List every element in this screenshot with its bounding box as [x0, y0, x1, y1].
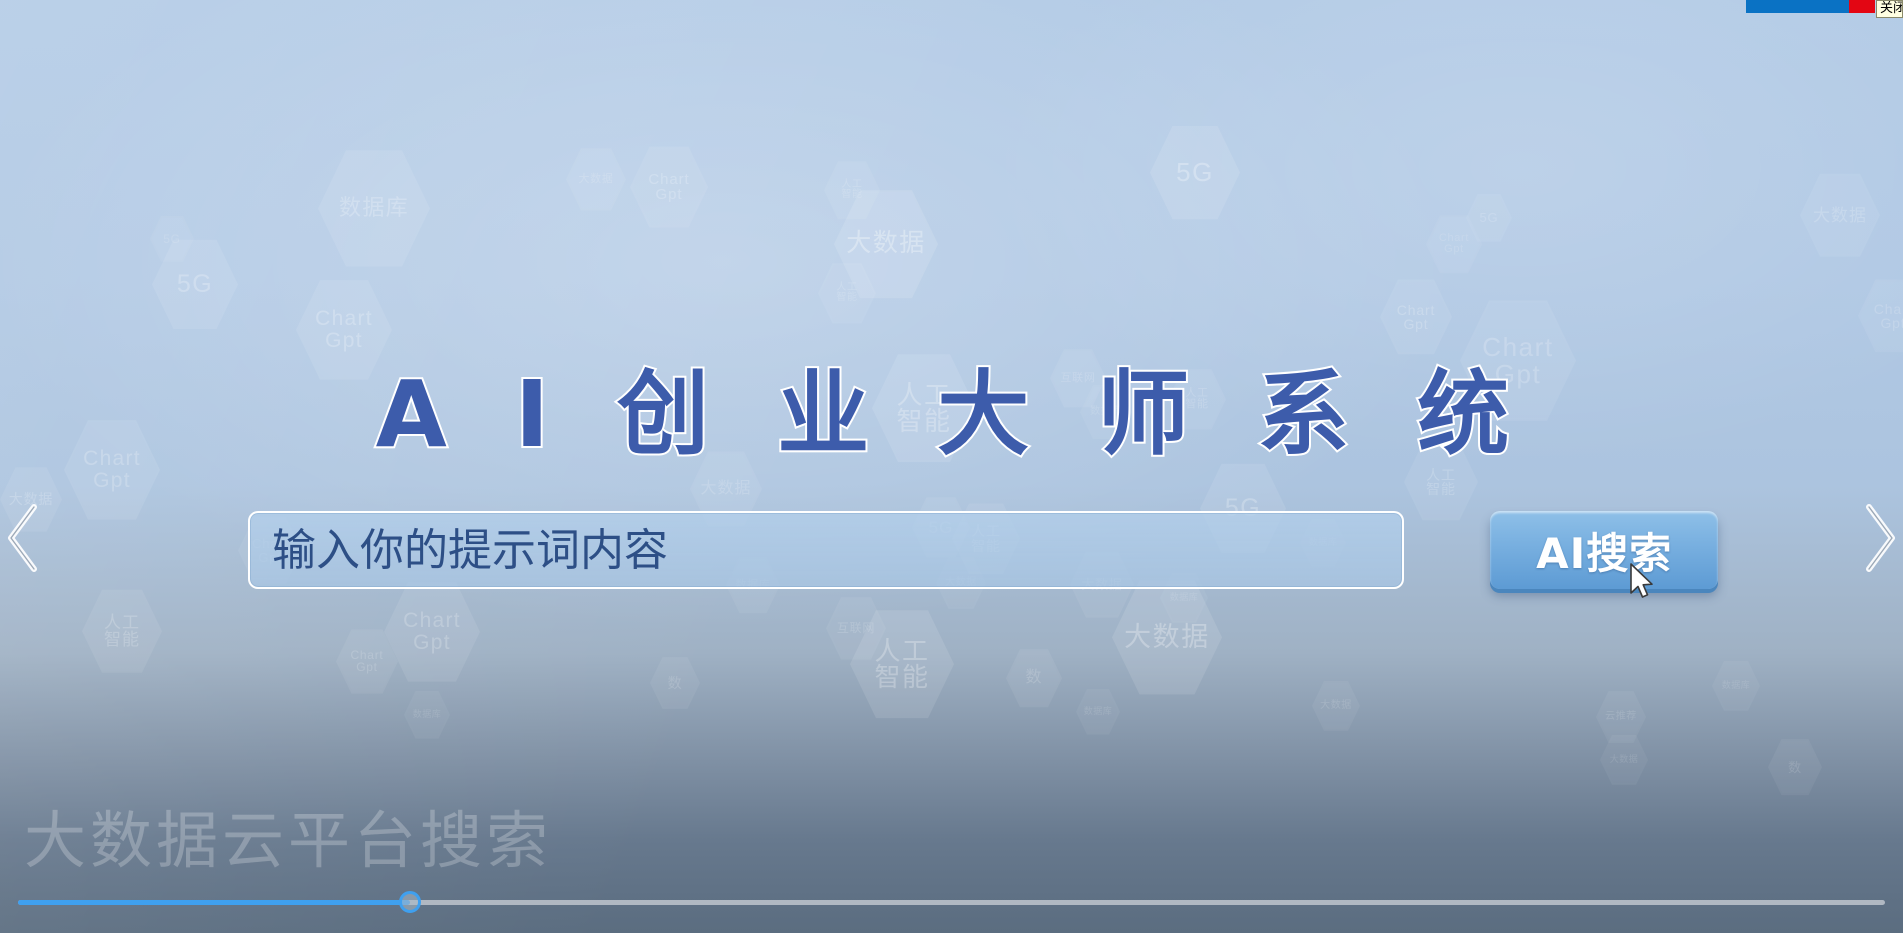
hexagon-inner — [632, 147, 706, 227]
hexagon-node: 数据库 — [404, 690, 450, 740]
hexagon-outline — [650, 656, 700, 710]
hexagon-inner — [1428, 216, 1480, 272]
window-close-button[interactable] — [1849, 0, 1875, 13]
hexagon-inner — [320, 150, 428, 267]
hexagon-label: 大数据 — [846, 231, 926, 257]
carousel-progress-slider[interactable] — [18, 891, 1885, 913]
hexagon-inner — [1114, 580, 1220, 695]
hexagon-inner — [152, 217, 192, 261]
hexagon-outline — [404, 690, 450, 740]
hexagon-label: 互联网 — [837, 622, 875, 634]
hexagon-node: Chart Gpt — [384, 580, 480, 684]
hexagon-outline — [336, 628, 398, 695]
hexagon-label: 数 — [668, 676, 683, 690]
hexagon-outline — [566, 147, 626, 212]
hexagon-node: 大数据 — [1800, 172, 1880, 258]
hexagon-node: 人工 智能 — [82, 588, 162, 674]
hexagon-outline — [824, 160, 880, 220]
hexagon-inner — [836, 190, 936, 298]
hexagon-outline — [1112, 578, 1222, 697]
hexagon-node: 人工 智能 — [850, 608, 954, 720]
hexagon-label: 大数据 — [1610, 755, 1639, 764]
hexagon-outline — [850, 608, 954, 720]
hexagon-label: Chart Gpt — [1874, 302, 1903, 331]
hexagon-inner — [338, 630, 396, 693]
hexagon-outline — [1712, 660, 1760, 712]
hexagon-outline — [834, 188, 938, 300]
hexagon-inner — [1598, 692, 1644, 742]
hexagon-label: 数据库 — [1722, 681, 1751, 690]
hexagon-label: 大数据 — [579, 174, 614, 185]
hexagon-label: Chart Gpt — [351, 649, 384, 673]
hexagon-inner — [1770, 740, 1820, 794]
hexagon-inner — [820, 264, 874, 323]
hexagon-outline — [1596, 690, 1646, 744]
hexagon-node: 数据库 — [1712, 660, 1760, 712]
hexagon-label: 5G — [177, 272, 213, 298]
chevron-left-icon — [2, 495, 48, 581]
progress-fill — [18, 900, 410, 905]
hexagon-outline — [1312, 680, 1360, 732]
hexagon-label: 5G — [1480, 211, 1499, 224]
hexagon-inner — [1468, 195, 1510, 241]
hexagon-outline — [1466, 193, 1512, 243]
hexagon-node: 5G — [150, 215, 194, 263]
hexagon-node: Chart Gpt — [336, 628, 398, 695]
hexagon-label: Chart Gpt — [1397, 303, 1435, 332]
hexagon-label: Chart Gpt — [403, 610, 461, 653]
hexagon-label: 数据库 — [339, 197, 409, 219]
hexagon-label: 数 — [1026, 670, 1043, 686]
hexagon-node: 人工 智能 — [824, 160, 880, 220]
ai-search-hero-screen: 数据库大数据Chart Gpt人工 智能大数据人工 智能5G5G大数据5G5GC… — [0, 0, 1903, 933]
hexagon-outline — [318, 148, 430, 269]
hexagon-outline — [152, 238, 238, 331]
hexagon-inner — [568, 149, 624, 210]
hexagon-outline — [1600, 734, 1648, 786]
hexagon-outline — [82, 588, 162, 674]
hexagon-node: 大数据 — [834, 188, 938, 300]
hexagon-node: 数据库 — [318, 148, 430, 269]
carousel-prev-button[interactable] — [2, 495, 48, 581]
hexagon-node: Chart Gpt — [1426, 214, 1482, 274]
hexagon-node: 大数据 — [1312, 680, 1360, 732]
hexagon-node: 5G — [152, 238, 238, 331]
hexagon-node: 大数据 — [566, 147, 626, 212]
hexagon-outline — [1006, 648, 1062, 708]
hexagon-inner — [1714, 662, 1758, 710]
hexagon-label: 人工 智能 — [874, 638, 929, 691]
hexagon-label: 大数据 — [1320, 701, 1352, 711]
hexagon-outline — [1150, 124, 1240, 221]
hexagon-node: 5G — [1150, 124, 1240, 221]
hexagon-outline — [384, 580, 480, 684]
watermark-text: 大数据云平台搜索 — [24, 790, 552, 880]
hexagon-inner — [852, 610, 952, 718]
hexagon-node: 人工 智能 — [818, 262, 876, 325]
hexagon-node: 5G — [1466, 193, 1512, 243]
hexagon-label: 人工 智能 — [836, 283, 857, 303]
hexagon-label: Chart Gpt — [1439, 233, 1469, 255]
hexagon-label: 大数据 — [701, 481, 752, 497]
carousel-next-button[interactable] — [1855, 495, 1901, 581]
hexagon-node: 大数据 — [1600, 734, 1648, 786]
hexagon-label: 5G — [163, 233, 180, 245]
hexagon-label: 云推荐 — [1605, 712, 1637, 722]
hexagon-label: 人工 智能 — [841, 180, 862, 200]
hexagon-inner — [84, 590, 160, 672]
hexagon-label: Chart Gpt — [648, 172, 689, 203]
hexagon-inner — [1008, 650, 1060, 706]
prompt-search-input[interactable] — [248, 511, 1404, 589]
hexagon-inner — [1314, 682, 1358, 730]
hexagon-outline — [630, 145, 708, 229]
hexagon-inner — [1602, 736, 1646, 784]
hexagon-node: 云推荐 — [1596, 690, 1646, 744]
hexagon-node: 数 — [1006, 648, 1062, 708]
hexagon-inner — [154, 240, 236, 329]
hexagon-node: 数 — [650, 656, 700, 710]
page-title: A I 创 业 大 师 系 统 — [0, 340, 1903, 473]
hexagon-inner — [406, 692, 448, 738]
hexagon-label: 大数据 — [1813, 207, 1867, 224]
hexagon-inner — [828, 598, 884, 659]
hexagon-outline — [826, 596, 886, 661]
hexagon-outline — [150, 215, 194, 263]
hexagon-outline — [1800, 172, 1880, 258]
hexagon-node: Chart Gpt — [630, 145, 708, 229]
close-tooltip: 关闭 — [1876, 0, 1903, 18]
hexagon-inner — [1152, 126, 1238, 219]
hexagon-node: 大数据 — [1112, 578, 1222, 697]
ai-search-button[interactable]: AI搜索 — [1490, 511, 1718, 589]
hexagon-inner — [1802, 174, 1878, 256]
hexagon-label: 5G — [1176, 159, 1214, 186]
hexagon-node: 数 — [1768, 738, 1822, 796]
hexagon-label: 人工 智能 — [104, 614, 140, 649]
search-row: AI搜索 — [248, 505, 1718, 595]
hexagon-label: 数据库 — [1084, 707, 1113, 716]
hexagon-inner — [386, 582, 478, 682]
hexagon-inner — [826, 162, 878, 218]
hexagon-outline — [818, 262, 876, 325]
hexagon-label: 大数据 — [1124, 624, 1210, 652]
hexagon-node: 数据库 — [1076, 688, 1120, 736]
hexagon-inner — [1078, 690, 1118, 734]
hexagon-outline — [1426, 214, 1482, 274]
hexagon-outline — [1076, 688, 1120, 736]
hexagon-label: 数 — [1788, 761, 1802, 774]
hexagon-outline — [1768, 738, 1822, 796]
chevron-right-icon — [1855, 495, 1901, 581]
window-titlebar-fragment — [1746, 0, 1849, 13]
hexagon-inner — [652, 658, 698, 708]
hexagon-node: 互联网 — [826, 596, 886, 661]
progress-handle[interactable] — [399, 891, 421, 913]
hexagon-label: 数据库 — [413, 710, 442, 719]
